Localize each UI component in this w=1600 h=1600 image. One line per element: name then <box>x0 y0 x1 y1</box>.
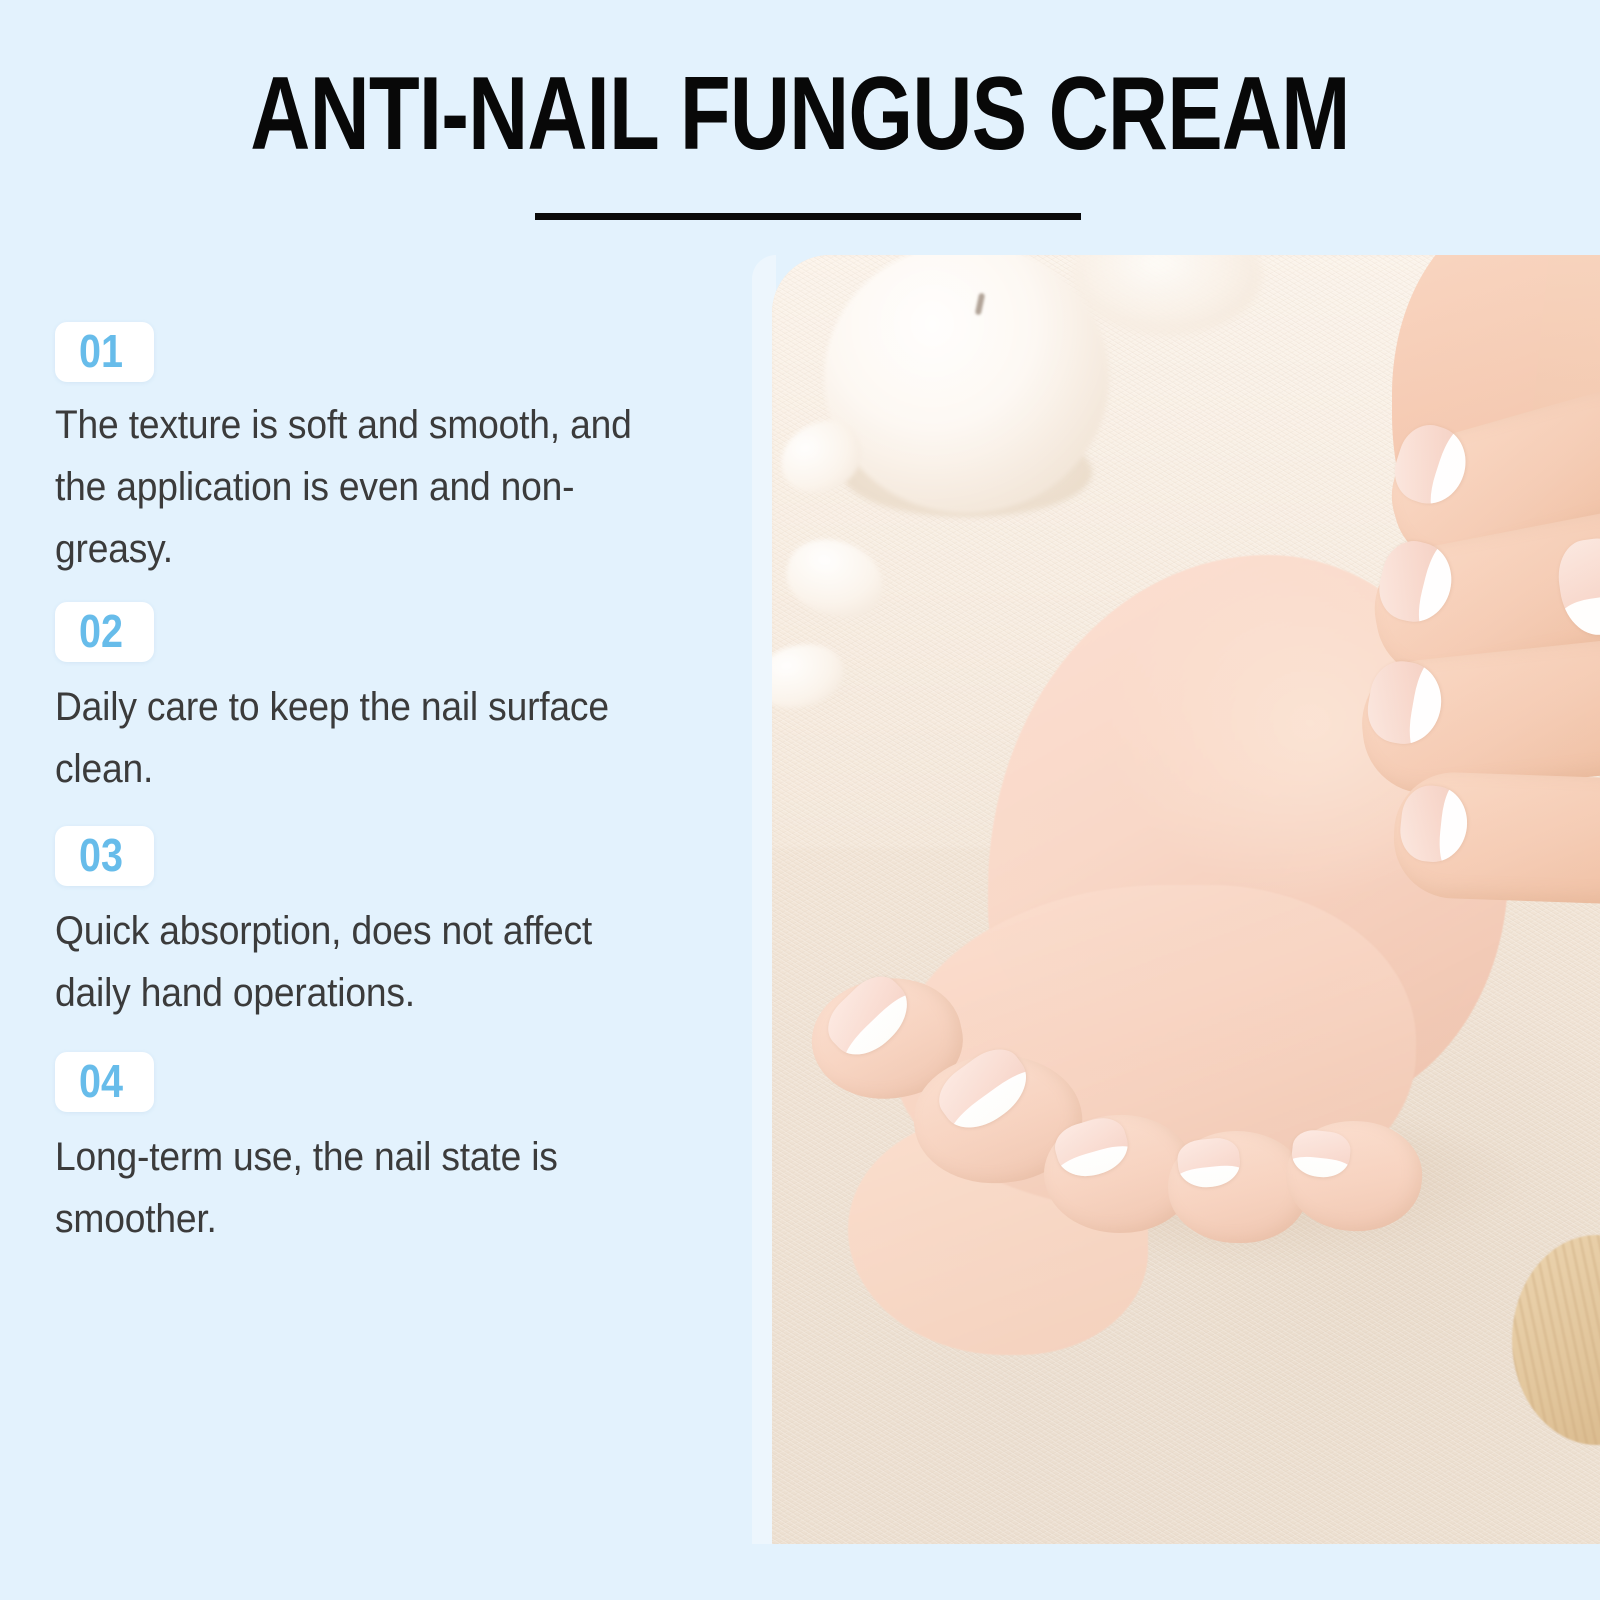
feature-number-04: 04 <box>79 1058 123 1104</box>
feature-item-02: 02 Daily care to keep the nail surface c… <box>0 602 740 800</box>
feature-number-03: 03 <box>79 832 123 878</box>
candle-icon <box>824 255 1109 513</box>
page-title: ANTI-NAIL FUNGUS CREAM <box>160 62 1440 166</box>
product-photo <box>772 255 1600 1544</box>
feature-text-04: Long-term use, the nail state is smoothe… <box>55 1126 669 1250</box>
feature-badge-03: 03 <box>55 826 154 886</box>
title-underline-rule <box>535 213 1081 220</box>
feature-badge-04: 04 <box>55 1052 154 1112</box>
photo-inner <box>772 255 1600 1544</box>
hand <box>1242 255 1600 1075</box>
feature-text-02: Daily care to keep the nail surface clea… <box>55 676 669 800</box>
feature-number-01: 01 <box>79 328 123 374</box>
header: ANTI-NAIL FUNGUS CREAM <box>0 0 1600 250</box>
feature-badge-01: 01 <box>55 322 154 382</box>
feature-item-01: 01 The texture is soft and smooth, and t… <box>0 322 740 580</box>
feature-list: 01 The texture is soft and smooth, and t… <box>0 322 740 1262</box>
fingernail-french-manicure <box>1397 783 1471 865</box>
feature-badge-02: 02 <box>55 602 154 662</box>
feature-text-03: Quick absorption, does not affect daily … <box>55 900 669 1024</box>
toenail-french-manicure <box>1290 1128 1352 1180</box>
feature-item-03: 03 Quick absorption, does not affect dai… <box>0 826 740 1024</box>
feature-item-04: 04 Long-term use, the nail state is smoo… <box>0 1052 740 1250</box>
toenail-french-manicure <box>1176 1136 1243 1190</box>
feature-number-02: 02 <box>79 608 123 654</box>
feature-text-01: The texture is soft and smooth, and the … <box>55 394 669 580</box>
